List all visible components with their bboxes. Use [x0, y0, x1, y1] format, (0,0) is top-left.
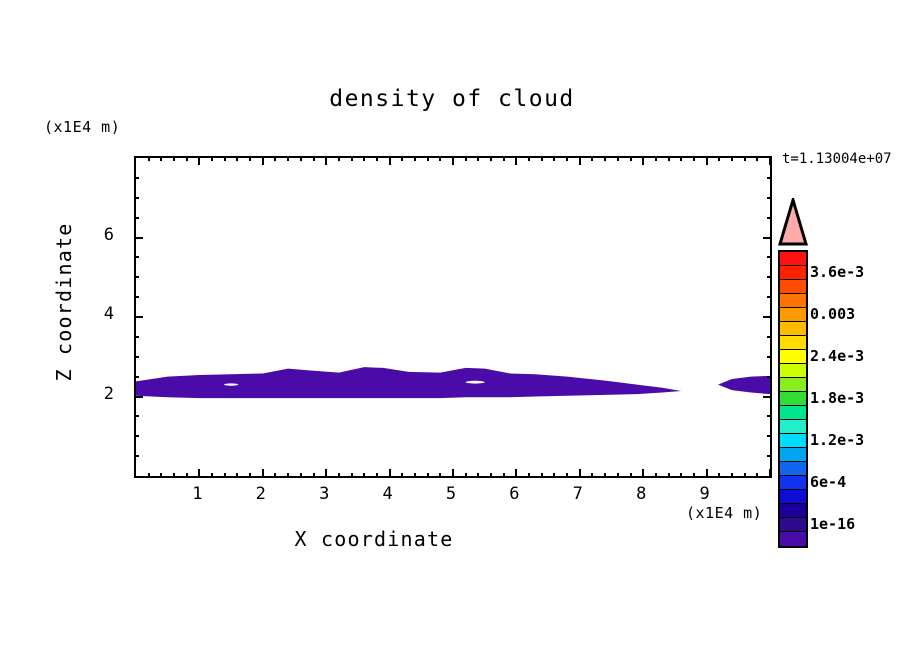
colorbar-band — [780, 476, 806, 490]
x-tick-top — [528, 156, 530, 161]
y-tick-right — [767, 177, 772, 179]
x-tick-label: 6 — [494, 484, 534, 504]
y-tick — [134, 396, 143, 398]
x-tick — [414, 473, 416, 478]
x-tick — [503, 473, 505, 478]
colorbar-arrow-tip — [778, 198, 808, 246]
x-tick — [224, 473, 226, 478]
x-tick-top — [287, 156, 289, 161]
x-tick-top — [351, 156, 353, 161]
y-tick-right — [767, 276, 772, 278]
y-tick-right — [767, 356, 772, 358]
y-tick-right — [767, 455, 772, 457]
colorbar-band — [780, 280, 806, 294]
right-edge-wedge — [718, 376, 770, 394]
x-tick-top — [300, 156, 302, 161]
x-tick — [744, 473, 746, 478]
colorbar-band — [780, 378, 806, 392]
colorbar-band — [780, 392, 806, 406]
colorbar-band — [780, 420, 806, 434]
colorbar-band — [780, 462, 806, 476]
x-tick — [274, 473, 276, 478]
x-tick-label: 5 — [431, 484, 471, 504]
x-tick — [591, 473, 593, 478]
colorbar-label: 6e-4 — [810, 473, 846, 491]
colorbar-band — [780, 448, 806, 462]
y-tick — [134, 435, 139, 437]
x-tick — [515, 469, 517, 478]
x-tick-top — [718, 156, 720, 161]
colorbar-band — [780, 490, 806, 504]
x-tick-top — [465, 156, 467, 161]
x-tick-top — [313, 156, 315, 161]
x-tick-top — [338, 156, 340, 161]
x-tick-top — [541, 156, 543, 161]
x-tick-top — [756, 156, 758, 161]
colorbar-band — [780, 336, 806, 350]
page-title: density of cloud — [0, 86, 904, 112]
colorbar-band — [780, 364, 806, 378]
x-tick-label: 7 — [558, 484, 598, 504]
x-tick — [173, 473, 175, 478]
colorbar-band-stack — [778, 250, 808, 548]
x-tick-top — [401, 156, 403, 161]
y-tick — [134, 376, 139, 378]
colorbar-band — [780, 532, 806, 546]
x-tick — [376, 473, 378, 478]
x-tick — [249, 473, 251, 478]
y-tick-right — [767, 217, 772, 219]
x-tick — [693, 473, 695, 478]
x-tick-top — [414, 156, 416, 161]
x-tick — [718, 473, 720, 478]
y-tick — [134, 296, 139, 298]
x-tick-top — [173, 156, 175, 161]
y-tick — [134, 336, 139, 338]
y-tick-label: 2 — [86, 384, 114, 404]
x-tick-label: 4 — [368, 484, 408, 504]
x-tick-top — [693, 156, 695, 161]
x-tick-label: 3 — [304, 484, 344, 504]
colorbar[interactable]: 3.6e-30.0032.4e-31.8e-31.2e-36e-41e-16 — [778, 198, 808, 548]
colorbar-band — [780, 434, 806, 448]
x-tick — [452, 469, 454, 478]
x-tick-top — [427, 156, 429, 161]
x-tick-top — [591, 156, 593, 161]
x-axis-title: X coordinate — [0, 527, 826, 551]
colorbar-band — [780, 308, 806, 322]
colorbar-band — [780, 266, 806, 280]
y-tick-right — [767, 336, 772, 338]
x-tick-top — [617, 156, 619, 161]
x-tick-label: 2 — [241, 484, 281, 504]
x-tick — [389, 469, 391, 478]
x-tick-top — [680, 156, 682, 161]
plot-canvas-root: density of cloud (x1E4 m) t=1.13004e+07 … — [0, 0, 904, 654]
x-tick — [465, 473, 467, 478]
colorbar-label: 1e-16 — [810, 515, 855, 533]
x-tick-top — [490, 156, 492, 161]
x-tick-top — [731, 156, 733, 161]
colorbar-band — [780, 294, 806, 308]
x-tick-top — [579, 156, 581, 165]
x-tick-top — [503, 156, 505, 161]
x-tick — [313, 473, 315, 478]
x-tick-top — [262, 156, 264, 165]
x-tick-top — [452, 156, 454, 165]
colorbar-label: 1.8e-3 — [810, 389, 864, 407]
x-tick-top — [744, 156, 746, 161]
y-tick-right — [767, 376, 772, 378]
y-tick — [134, 356, 139, 358]
colorbar-label: 1.2e-3 — [810, 431, 864, 449]
colorbar-band — [780, 322, 806, 336]
x-tick — [236, 473, 238, 478]
x-tick-top — [706, 156, 708, 165]
y-tick — [134, 217, 139, 219]
x-tick — [351, 473, 353, 478]
x-tick — [439, 473, 441, 478]
colorbar-band — [780, 406, 806, 420]
x-tick-top — [389, 156, 391, 165]
x-tick-top — [274, 156, 276, 161]
x-tick-top — [198, 156, 200, 165]
y-tick-right — [767, 435, 772, 437]
x-tick — [566, 473, 568, 478]
colorbar-label: 2.4e-3 — [810, 347, 864, 365]
x-tick — [477, 473, 479, 478]
y-tick — [134, 237, 143, 239]
x-tick-top — [439, 156, 441, 161]
hole-a — [224, 383, 238, 385]
x-tick-label: 1 — [177, 484, 217, 504]
cloud-contour-layer — [136, 158, 770, 476]
plot-frame — [134, 156, 772, 478]
x-tick-top — [630, 156, 632, 161]
x-tick — [325, 469, 327, 478]
x-tick-top — [160, 156, 162, 161]
x-tick — [668, 473, 670, 478]
y-tick — [134, 316, 143, 318]
x-tick — [579, 469, 581, 478]
y-tick-label: 4 — [86, 304, 114, 324]
x-tick-top — [325, 156, 327, 165]
y-tick-right — [767, 296, 772, 298]
y-tick — [134, 276, 139, 278]
colorbar-band — [780, 350, 806, 364]
x-tick-top — [604, 156, 606, 161]
x-tick-top — [655, 156, 657, 161]
y-tick — [134, 415, 139, 417]
x-tick-top — [642, 156, 644, 165]
x-tick-top — [236, 156, 238, 161]
x-tick-top — [148, 156, 150, 161]
x-tick-top — [668, 156, 670, 161]
x-tick — [706, 469, 708, 478]
x-tick — [211, 473, 213, 478]
y-tick-right — [763, 396, 772, 398]
x-tick-top — [211, 156, 213, 161]
y-axis-title: Z coordinate — [52, 202, 76, 402]
x-tick — [427, 473, 429, 478]
y-tick — [134, 455, 139, 457]
y-tick-label: 6 — [86, 225, 114, 245]
x-tick — [756, 473, 758, 478]
x-tick — [300, 473, 302, 478]
timestamp-annotation: t=1.13004e+07 — [782, 151, 892, 167]
cloud-filled-regions — [136, 367, 770, 398]
x-tick — [198, 469, 200, 478]
x-tick — [655, 473, 657, 478]
hole-b — [466, 381, 485, 384]
x-tick-top — [515, 156, 517, 165]
x-tick-label: 9 — [685, 484, 725, 504]
colorbar-band — [780, 504, 806, 518]
y-tick-right — [767, 415, 772, 417]
colorbar-band — [780, 518, 806, 532]
x-tick — [490, 473, 492, 478]
x-tick-top — [186, 156, 188, 161]
main-cloud-band — [136, 367, 681, 398]
x-tick — [630, 473, 632, 478]
y-tick-right — [763, 237, 772, 239]
y-tick-right — [767, 256, 772, 258]
y-tick — [134, 197, 139, 199]
x-tick-top — [553, 156, 555, 161]
colorbar-label: 0.003 — [810, 305, 855, 323]
x-tick — [401, 473, 403, 478]
x-tick-top — [363, 156, 365, 161]
colorbar-band — [780, 252, 806, 266]
y-tick — [134, 256, 139, 258]
x-tick-top — [249, 156, 251, 161]
x-tick — [363, 473, 365, 478]
x-tick — [680, 473, 682, 478]
x-tick — [148, 473, 150, 478]
x-tick-top — [769, 156, 771, 165]
x-tick — [541, 473, 543, 478]
x-tick-top — [477, 156, 479, 161]
x-tick — [287, 473, 289, 478]
x-tick-top — [566, 156, 568, 161]
x-tick — [160, 473, 162, 478]
x-tick — [617, 473, 619, 478]
x-tick — [769, 469, 771, 478]
y-tick-right — [763, 316, 772, 318]
x-tick-label: 8 — [621, 484, 661, 504]
x-tick — [186, 473, 188, 478]
x-tick — [262, 469, 264, 478]
x-tick-top — [224, 156, 226, 161]
x-axis-unit-label: (x1E4 m) — [686, 504, 762, 522]
y-tick — [134, 177, 139, 179]
x-tick-top — [376, 156, 378, 161]
x-tick — [338, 473, 340, 478]
x-tick — [528, 473, 530, 478]
y-axis-unit-label: (x1E4 m) — [44, 118, 120, 136]
x-tick — [604, 473, 606, 478]
x-tick — [642, 469, 644, 478]
plot-area — [136, 158, 770, 476]
y-tick-right — [767, 197, 772, 199]
colorbar-label: 3.6e-3 — [810, 263, 864, 281]
x-tick — [553, 473, 555, 478]
x-tick — [731, 473, 733, 478]
